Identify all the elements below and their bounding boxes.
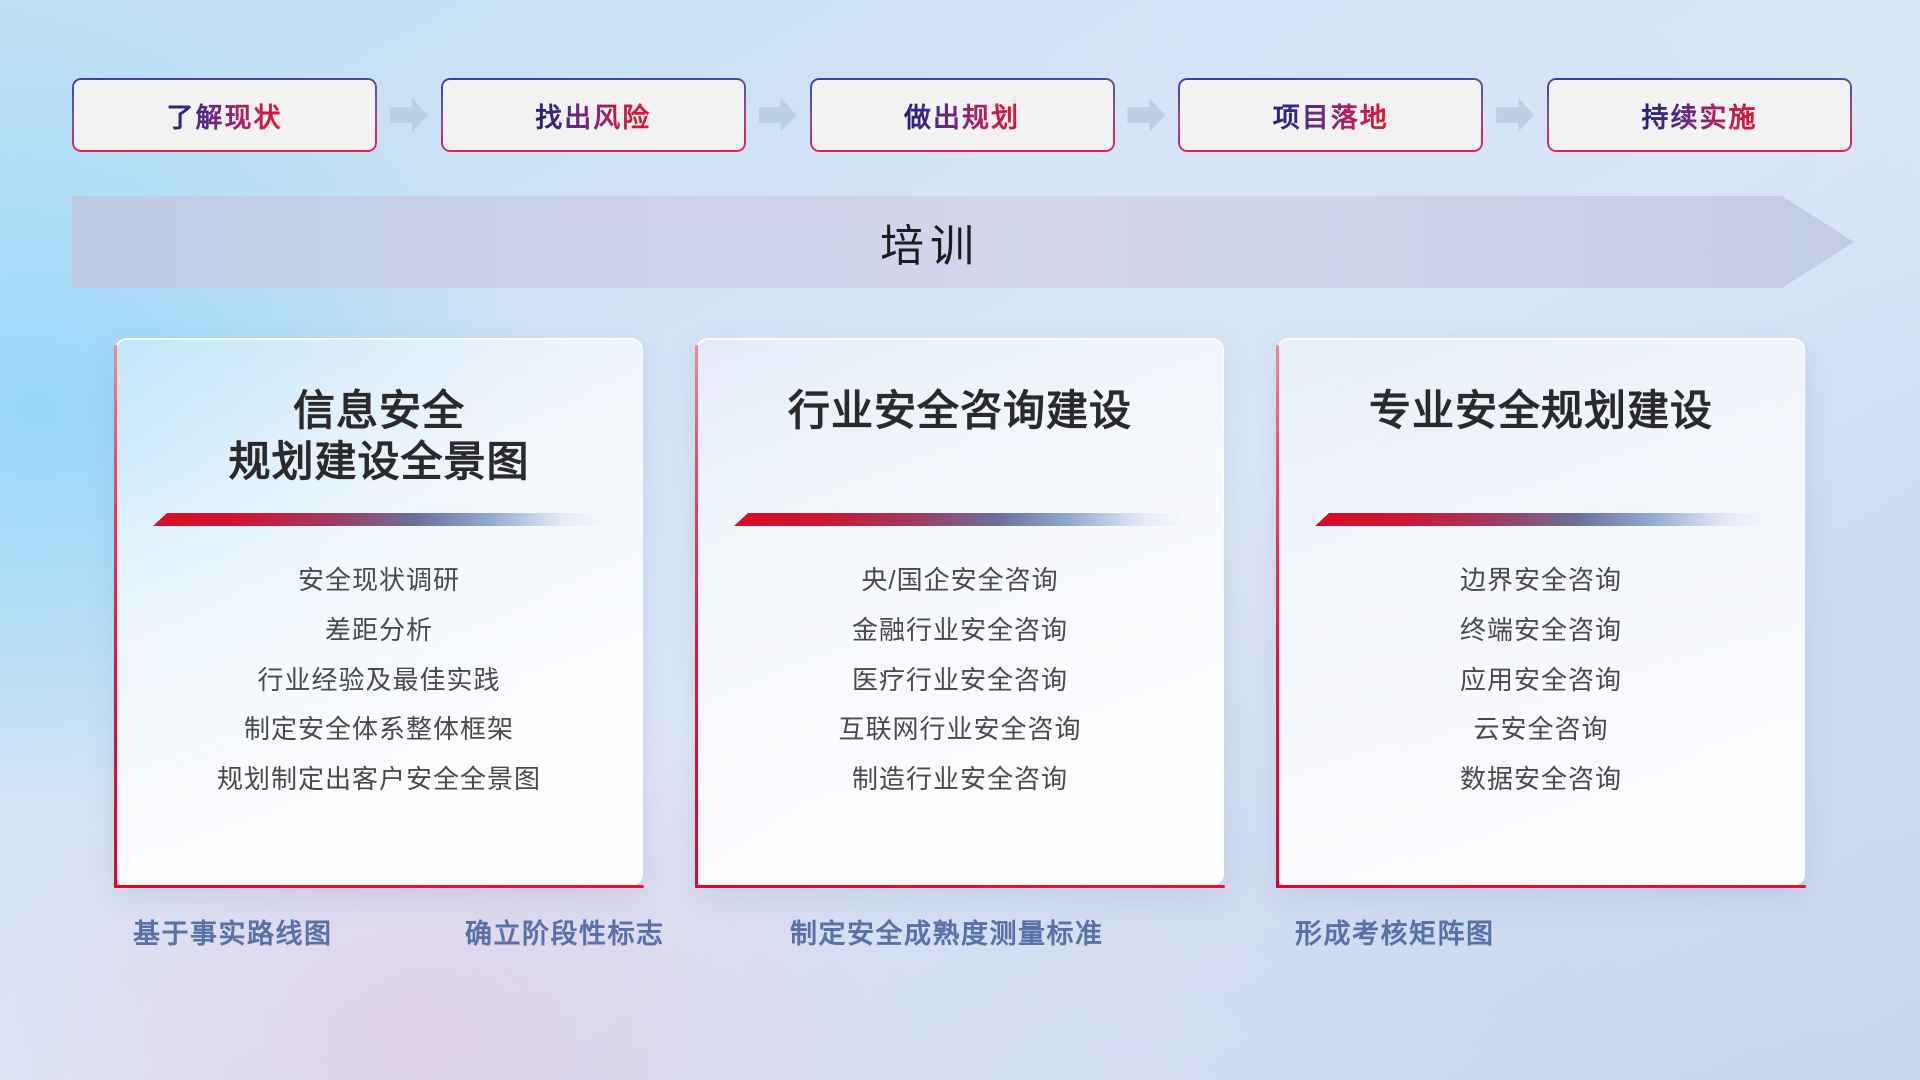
- card-accent-bottom-3: [1276, 885, 1806, 888]
- card-accent-left-1: [114, 345, 117, 888]
- card-title-line-3a: 专业安全规划建设: [1369, 385, 1713, 436]
- card-title-3: 专业安全规划建设: [1312, 385, 1770, 489]
- step-box-3[interactable]: 做出规划: [810, 78, 1115, 152]
- card-list-2: 央/国企安全咨询 金融行业安全咨询 医疗行业安全咨询 互联网行业安全咨询 制造行…: [731, 564, 1189, 797]
- training-banner-arrow: 培训: [72, 196, 1854, 288]
- list-item: 金融行业安全咨询: [852, 614, 1068, 648]
- list-item: 制定安全体系整体框架: [244, 713, 514, 747]
- list-item: 安全现状调研: [298, 564, 460, 598]
- card-accent-left-3: [1276, 345, 1279, 888]
- step-arrow-icon-2: [759, 98, 797, 132]
- list-item: 互联网行业安全咨询: [838, 713, 1081, 747]
- card-divider-1: [153, 513, 605, 526]
- card-title-line-1b: 规划建设全景图: [228, 436, 529, 487]
- process-steps-row: 了解现状 找出风险 做出规划 项目落地 持续实施: [72, 78, 1852, 152]
- step-label-1: 了解现状: [167, 96, 283, 135]
- card-title-2: 行业安全咨询建设: [731, 385, 1189, 489]
- card-1[interactable]: 信息安全 规划建设全景图 安全现状调研 差距分析 行业经验及最佳实践 制定安全体…: [115, 338, 643, 886]
- card-title-1: 信息安全 规划建设全景图: [150, 385, 608, 489]
- caption-2: 确立阶段性标志: [465, 912, 665, 951]
- step-label-5: 持续实施: [1642, 96, 1758, 135]
- step-box-1[interactable]: 了解现状: [72, 78, 377, 152]
- step-label-2: 找出风险: [535, 96, 651, 135]
- list-item: 央/国企安全咨询: [861, 564, 1058, 598]
- card-list-1: 安全现状调研 差距分析 行业经验及最佳实践 制定安全体系整体框架 规划制定出客户…: [150, 564, 608, 797]
- card-accent-bottom-1: [114, 885, 644, 888]
- list-item: 规划制定出客户安全全景图: [217, 763, 541, 797]
- cards-row: 信息安全 规划建设全景图 安全现状调研 差距分析 行业经验及最佳实践 制定安全体…: [115, 338, 1805, 886]
- list-item: 应用安全咨询: [1460, 664, 1622, 698]
- step-box-5[interactable]: 持续实施: [1547, 78, 1852, 152]
- card-divider-2: [734, 513, 1186, 526]
- caption-3: 制定安全成熟度测量标准: [790, 912, 1104, 951]
- caption-4: 形成考核矩阵图: [1295, 912, 1495, 951]
- list-item: 终端安全咨询: [1460, 614, 1622, 648]
- caption-1: 基于事实路线图: [133, 912, 333, 951]
- step-arrow-icon-1: [390, 98, 428, 132]
- list-item: 云安全咨询: [1473, 713, 1608, 747]
- captions-row: 基于事实路线图 确立阶段性标志 制定安全成熟度测量标准 形成考核矩阵图: [0, 912, 1920, 964]
- card-3[interactable]: 专业安全规划建设 边界安全咨询 终端安全咨询 应用安全咨询 云安全咨询 数据安全…: [1277, 338, 1805, 886]
- list-item: 行业经验及最佳实践: [257, 664, 500, 698]
- step-label-3: 做出规划: [904, 96, 1020, 135]
- banner-title: 培训: [880, 210, 980, 274]
- list-item: 制造行业安全咨询: [852, 763, 1068, 797]
- card-accent-left-2: [695, 345, 698, 888]
- list-item: 数据安全咨询: [1460, 763, 1622, 797]
- list-item: 差距分析: [325, 614, 433, 648]
- card-title-line-1a: 信息安全: [293, 385, 465, 436]
- card-list-3: 边界安全咨询 终端安全咨询 应用安全咨询 云安全咨询 数据安全咨询: [1312, 564, 1770, 797]
- list-item: 医疗行业安全咨询: [852, 664, 1068, 698]
- step-arrow-icon-4: [1496, 98, 1534, 132]
- step-box-2[interactable]: 找出风险: [441, 78, 746, 152]
- step-box-4[interactable]: 项目落地: [1178, 78, 1483, 152]
- card-title-line-2a: 行业安全咨询建设: [788, 385, 1132, 436]
- slide-canvas: 了解现状 找出风险 做出规划 项目落地 持续实施 培训 信息安全 规划建设全景图: [0, 0, 1920, 1080]
- list-item: 边界安全咨询: [1460, 564, 1622, 598]
- card-divider-3: [1315, 513, 1767, 526]
- card-2[interactable]: 行业安全咨询建设 央/国企安全咨询 金融行业安全咨询 医疗行业安全咨询 互联网行…: [696, 338, 1224, 886]
- card-accent-bottom-2: [695, 885, 1225, 888]
- step-arrow-icon-3: [1127, 98, 1165, 132]
- step-label-4: 项目落地: [1273, 96, 1389, 135]
